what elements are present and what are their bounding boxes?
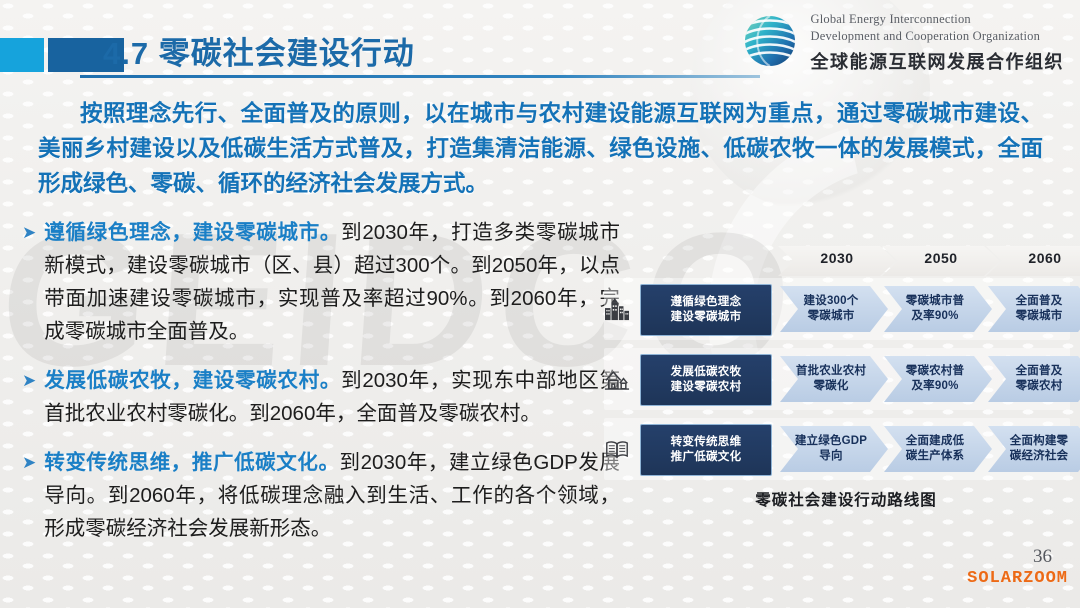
lead-paragraph: 按照理念先行、全面普及的原则，以在城市与农村建设能源互联网为重点，通过零碳城市建… — [38, 96, 1043, 201]
logo-english-line2: Development and Cooperation Organization — [811, 29, 1065, 45]
slide-header: 4.7 零碳社会建设行动 — [0, 0, 1080, 92]
row-head-line2: 推广低碳文化 — [671, 450, 742, 465]
step-line2: 碳生产体系 — [906, 449, 965, 464]
roadmap-caption: 零碳社会建设行动路线图 — [622, 488, 1070, 510]
organization-logo: Global Energy Interconnection Developmen… — [739, 12, 1065, 74]
bullet-arrow-icon: ➤ — [22, 216, 36, 348]
step-line1: 全面构建零 — [1010, 434, 1069, 449]
page-title: 4.7 零碳社会建设行动 — [103, 28, 415, 73]
step-line2: 零碳城市 — [808, 309, 855, 324]
step-line1: 建设300个 — [804, 294, 859, 309]
logo-english-line1: Global Energy Interconnection — [811, 12, 1065, 28]
row-head-line2: 建设零碳城市 — [671, 310, 742, 325]
roadmap-row-village: 发展低碳农牧 建设零碳农村 首批农业农村 零碳化 零碳农村普 及率90% 全面普… — [622, 350, 1070, 412]
row-head-line1: 转变传统思维 — [671, 435, 742, 450]
page-number: 36 — [1033, 546, 1052, 568]
step-line1: 全面普及 — [1016, 294, 1063, 309]
roadmap-row-head: 转变传统思维 推广低碳文化 — [640, 424, 772, 476]
rural-house-icon — [600, 362, 634, 396]
step-line2: 零碳城市 — [1016, 309, 1063, 324]
step-line1: 全面普及 — [1016, 364, 1063, 379]
bullet-arrow-icon: ➤ — [22, 446, 36, 545]
solarzoom-watermark: SOLARZOOM — [967, 569, 1068, 588]
year-label-2030: 2030 — [778, 250, 896, 266]
step-line2: 导向 — [819, 449, 842, 464]
step-line1: 零碳城市普 — [906, 294, 965, 309]
year-label-2060: 2060 — [986, 250, 1080, 266]
roadmap-diagram: 2030 2050 2060 — [622, 246, 1070, 526]
roadmap-row-city: 遵循绿色理念 建设零碳城市 建设300个 零碳城市 零碳城市普 及率90% 全面… — [622, 280, 1070, 342]
year-label-2050: 2050 — [882, 250, 1000, 266]
globe-logo-icon — [739, 12, 801, 74]
bullet-lead-text: 发展低碳农牧，建设零碳农村。 — [44, 369, 341, 392]
bullet-arrow-icon: ➤ — [22, 364, 36, 430]
roadmap-row-culture: 转变传统思维 推广低碳文化 建立绿色GDP 导向 全面建成低 碳生产体系 全面构… — [622, 420, 1070, 482]
bullet-lead-text: 转变传统思维，推广低碳文化。 — [44, 451, 339, 474]
bullet-list: ➤ 遵循绿色理念，建设零碳城市。到2030年，打造多类零碳城市新模式，建设零碳城… — [22, 216, 620, 561]
open-book-icon — [600, 432, 634, 466]
header-accent-square-cyan — [0, 38, 44, 72]
bullet-text: 遵循绿色理念，建设零碳城市。到2030年，打造多类零碳城市新模式，建设零碳城市（… — [44, 216, 620, 348]
row-head-line2: 建设零碳农村 — [671, 380, 742, 395]
list-item: ➤ 遵循绿色理念，建设零碳城市。到2030年，打造多类零碳城市新模式，建设零碳城… — [22, 216, 620, 348]
step-line2: 及率90% — [911, 309, 958, 324]
roadmap-row-head: 遵循绿色理念 建设零碳城市 — [640, 284, 772, 336]
bullet-text: 转变传统思维，推广低碳文化。到2030年，建立绿色GDP发展导向。到2060年，… — [44, 446, 620, 545]
logo-text-block: Global Energy Interconnection Developmen… — [811, 12, 1065, 73]
bullet-text: 发展低碳农牧，建设零碳农村。到2030年，实现东中部地区第首批农业农村零碳化。到… — [44, 364, 620, 430]
step-line2: 零碳农村 — [1016, 379, 1063, 394]
list-item: ➤ 发展低碳农牧，建设零碳农村。到2030年，实现东中部地区第首批农业农村零碳化… — [22, 364, 620, 430]
bullet-lead-text: 遵循绿色理念，建设零碳城市。 — [44, 221, 341, 244]
step-line1: 首批农业农村 — [796, 364, 866, 379]
row-head-line1: 发展低碳农牧 — [671, 365, 742, 380]
step-line1: 建立绿色GDP — [795, 434, 867, 449]
step-line2: 及率90% — [911, 379, 958, 394]
list-item: ➤ 转变传统思维，推广低碳文化。到2030年，建立绿色GDP发展导向。到2060… — [22, 446, 620, 545]
step-line1: 全面建成低 — [906, 434, 965, 449]
step-line2: 碳经济社会 — [1010, 449, 1069, 464]
logo-chinese-line: 全球能源互联网发展合作组织 — [811, 48, 1065, 74]
row-head-line1: 遵循绿色理念 — [671, 295, 742, 310]
city-buildings-icon — [600, 292, 634, 326]
step-line2: 零碳化 — [813, 379, 848, 394]
roadmap-row-head: 发展低碳农牧 建设零碳农村 — [640, 354, 772, 406]
roadmap-year-axis: 2030 2050 2060 — [622, 246, 1070, 280]
title-underline-rule — [80, 75, 760, 78]
slide-canvas: GEIDCO 4.7 零碳社会建设行动 — [0, 0, 1080, 608]
step-line1: 零碳农村普 — [906, 364, 965, 379]
